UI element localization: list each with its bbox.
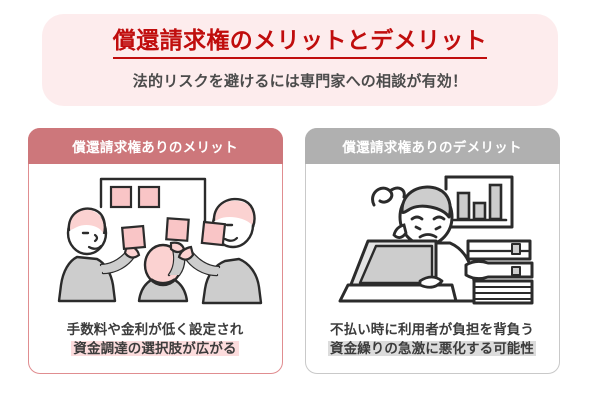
comparison-cards: 償還請求権ありのメリット	[0, 128, 600, 378]
demerit-illustration	[306, 165, 558, 313]
demerit-card-header: 償還請求権ありのデメリット	[305, 128, 560, 164]
merit-caption-line2: 資金調達の選択肢が広がる	[71, 341, 238, 356]
infographic-canvas: 償還請求権のメリットとデメリット 法的リスクを避けるには専門家への相談が有効！ …	[0, 0, 600, 400]
merit-illustration	[29, 165, 281, 313]
demerit-caption-line1: 不払い時に利用者が負担を背負う	[306, 320, 558, 340]
team-sticky-notes-whiteboard-icon	[39, 169, 271, 309]
header-banner: 償還請求権のメリットとデメリット 法的リスクを避けるには専門家への相談が有効！	[42, 14, 558, 106]
merit-caption-line1: 手数料や金利が低く設定され	[29, 320, 281, 340]
demerit-card: 償還請求権ありのデメリット	[305, 128, 560, 374]
merit-caption-line2-wrap: 資金調達の選択肢が広がる	[29, 339, 281, 359]
merit-card-header-label: 償還請求権ありのメリット	[72, 136, 238, 156]
merit-caption: 手数料や金利が低く設定され 資金調達の選択肢が広がる	[29, 320, 281, 359]
page-subtitle: 法的リスクを避けるには専門家への相談が有効！	[133, 70, 467, 91]
demerit-caption: 不払い時に利用者が負担を背負う 資金繰りの急激に悪化する可能性	[306, 320, 558, 359]
demerit-caption-line2-wrap: 資金繰りの急激に悪化する可能性	[306, 339, 558, 359]
merit-card-header: 償還請求権ありのメリット	[28, 128, 283, 164]
page-title: 償還請求権のメリットとデメリット	[113, 29, 487, 59]
demerit-caption-line2: 資金繰りの急激に悪化する可能性	[328, 341, 536, 356]
demerit-card-header-label: 償還請求権ありのデメリット	[342, 136, 521, 156]
worried-person-laptop-chart-books-icon	[316, 169, 548, 309]
merit-card: 償還請求権ありのメリット	[28, 128, 283, 374]
